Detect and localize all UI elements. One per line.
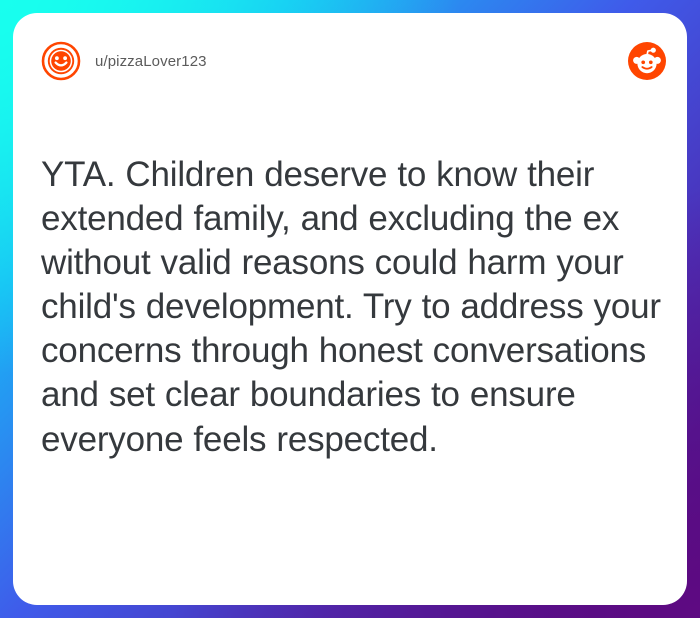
reddit-comment-card: u/pizzaLover123 YTA. Children deserve to… (13, 13, 687, 605)
smiley-face-avatar-icon (41, 41, 81, 81)
card-body: YTA. Children deserve to know their exte… (41, 153, 667, 462)
post-text: YTA. Children deserve to know their exte… (41, 153, 667, 462)
card-header: u/pizzaLover123 (13, 13, 687, 109)
username-label: u/pizzaLover123 (95, 53, 207, 70)
gradient-background: u/pizzaLover123 YTA. Children deserve to… (0, 0, 700, 618)
reddit-snoo-logo-icon (628, 42, 666, 80)
